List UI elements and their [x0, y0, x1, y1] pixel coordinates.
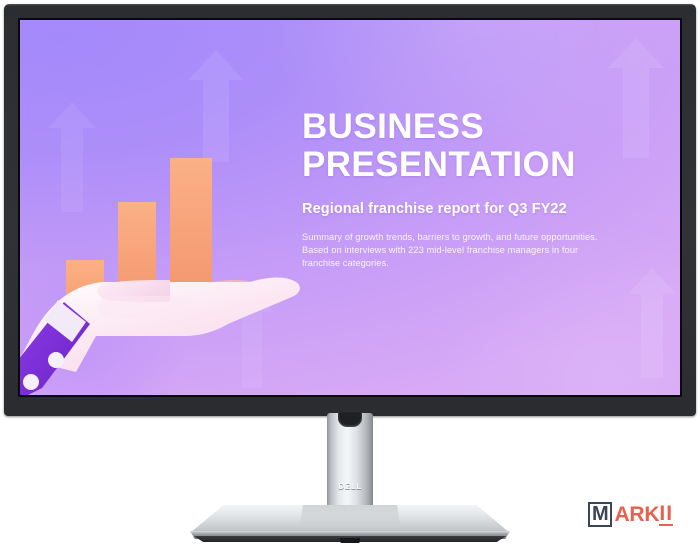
markii-watermark: M ARK II [588, 502, 673, 527]
monitor-chassis: BUSINESS PRESENTATION Regional franchise… [4, 4, 696, 416]
slide-text-block: BUSINESS PRESENTATION Regional franchise… [302, 108, 652, 271]
watermark-mid-text: ARK [614, 504, 659, 525]
slide-body-line-2: Based on interviews with 223 mid-level f… [302, 244, 638, 257]
cable-management-slot [338, 412, 362, 427]
slide-subtitle: Regional franchise report for Q3 FY22 [302, 200, 652, 218]
stand-base-notch [340, 538, 359, 543]
background-up-arrow-icon [628, 268, 676, 378]
slide-body-line-1: Summary of growth trends, barriers to gr… [302, 231, 638, 244]
hand-holding-bar-chart-illustration [20, 110, 310, 395]
slide-title-line-1: BUSINESS [302, 107, 484, 146]
monitor-stand-neck: DELL [327, 413, 373, 515]
slide-body-line-3: franchise categories. [302, 257, 638, 270]
monitor-screen[interactable]: BUSINESS PRESENTATION Regional franchise… [20, 20, 680, 395]
stand-base-top-surface [190, 505, 510, 533]
watermark-boxed-letter: M [588, 502, 612, 527]
watermark-underlined-text: II [659, 503, 673, 526]
slide-title-line-2: PRESENTATION [302, 145, 576, 184]
slide-body-text: Summary of growth trends, barriers to gr… [302, 231, 638, 271]
dell-logo: DELL [327, 481, 373, 491]
slide-title: BUSINESS PRESENTATION [302, 108, 652, 184]
monitor-stand-base [190, 505, 510, 541]
